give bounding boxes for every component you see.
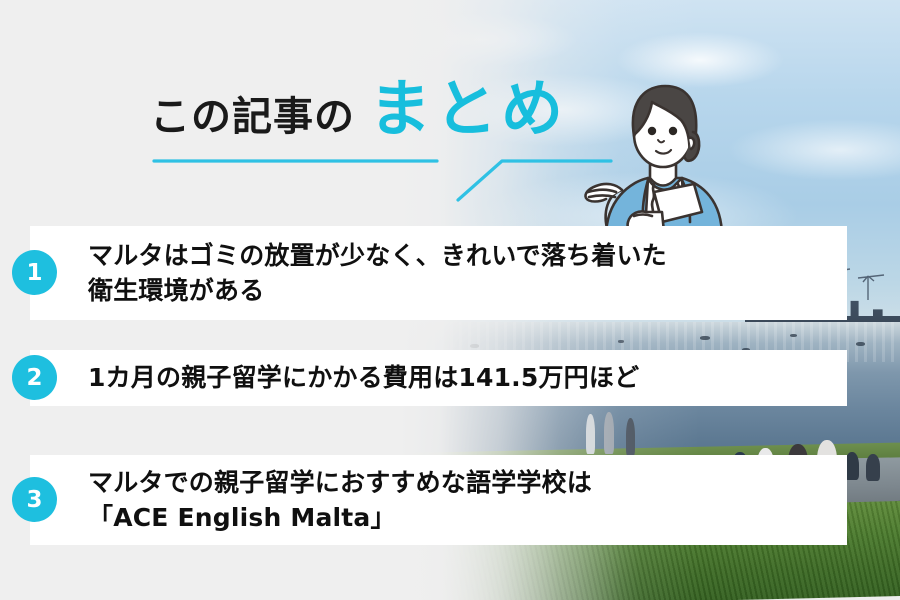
summary-card-3-text: マルタでの親子留学におすすめな語学学校は 「ACE English Malta」 — [88, 465, 592, 536]
summary-badge-2-number: 2 — [26, 365, 42, 391]
title-highlight: まとめ — [369, 78, 567, 140]
summary-badge-1: 1 — [12, 250, 57, 295]
summary-badge-1-number: 1 — [26, 260, 42, 286]
summary-badge-3-number: 3 — [26, 487, 42, 513]
eye — [669, 127, 677, 135]
summary-badge-2: 2 — [12, 355, 57, 400]
summary-card-2-text: 1カ月の親子留学にかかる費用は141.5万円ほど — [88, 360, 639, 396]
title-prefix: この記事の — [150, 84, 355, 142]
eye — [648, 127, 656, 135]
summary-card-2: 1カ月の親子留学にかかる費用は141.5万円ほど — [30, 350, 847, 406]
woman-presenter-illustration — [572, 72, 757, 237]
infographic-canvas: この記事の まとめ — [0, 0, 900, 600]
title-underline — [140, 140, 640, 220]
summary-badge-3: 3 — [12, 477, 57, 522]
summary-card-1-text: マルタはゴミの放置が少なく、きれいで落ち着いた 衛生環境がある — [88, 238, 667, 309]
summary-card-1: マルタはゴミの放置が少なく、きれいで落ち着いた 衛生環境がある — [30, 226, 847, 320]
summary-card-3: マルタでの親子留学におすすめな語学学校は 「ACE English Malta」 — [30, 455, 847, 545]
page-title: この記事の まとめ — [150, 78, 567, 142]
